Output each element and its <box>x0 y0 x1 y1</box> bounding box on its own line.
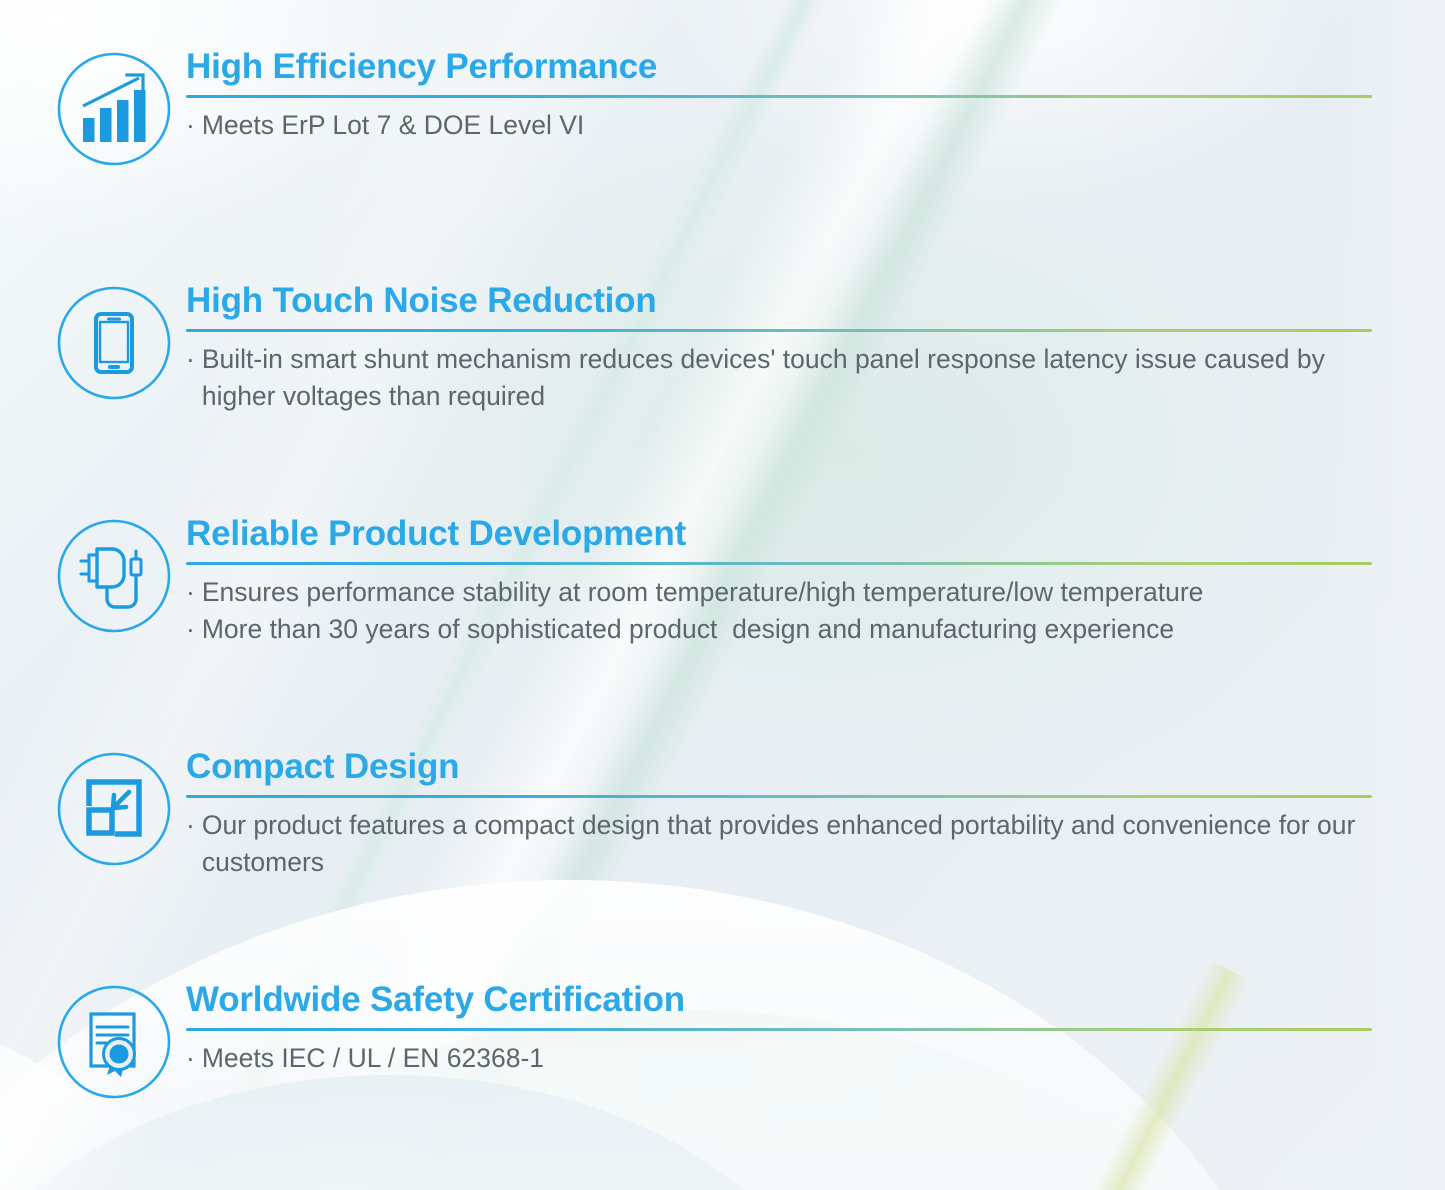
features-list: High Efficiency Performance · Meets ErP … <box>0 0 1445 1190</box>
compact-resize-icon <box>55 750 173 868</box>
bar-chart-growth-icon <box>55 50 173 168</box>
bullet-item: · Ensures performance stability at room … <box>186 574 1372 612</box>
bullet-text: Meets ErP Lot 7 & DOE Level VI <box>202 107 1372 145</box>
bullet-marker: · <box>186 611 195 649</box>
feature-icon-slot <box>52 515 176 635</box>
feature-title: Worldwide Safety Certification <box>186 981 1372 1020</box>
feature-bullets: · Meets IEC / UL / EN 62368-1 <box>186 1040 1372 1078</box>
feature-item-compact-design: Compact Design · Our product features a … <box>52 748 1372 882</box>
bullet-item: · Built-in smart shunt mechanism reduces… <box>186 341 1372 416</box>
feature-icon-slot <box>52 748 176 868</box>
feature-icon-slot <box>52 981 176 1101</box>
feature-body: High Efficiency Performance · Meets ErP … <box>176 48 1372 144</box>
feature-divider <box>186 95 1372 98</box>
bullet-marker: · <box>186 107 195 145</box>
bullet-marker: · <box>186 341 195 379</box>
bullet-item: · More than 30 years of sophisticated pr… <box>186 611 1372 649</box>
bullet-marker: · <box>186 1040 195 1078</box>
feature-body: Worldwide Safety Certification · Meets I… <box>176 981 1372 1077</box>
feature-body: Reliable Product Development · Ensures p… <box>176 515 1372 649</box>
bullet-item: · Our product features a compact design … <box>186 807 1372 882</box>
feature-bullets: · Built-in smart shunt mechanism reduces… <box>186 341 1372 416</box>
feature-divider <box>186 329 1372 332</box>
feature-bullets: · Our product features a compact design … <box>186 807 1372 882</box>
feature-icon-slot <box>52 48 176 168</box>
certificate-seal-icon <box>55 983 173 1101</box>
smartphone-icon <box>55 284 173 402</box>
feature-item-high-touch-noise-reduction: High Touch Noise Reduction · Built-in sm… <box>52 282 1372 416</box>
feature-title: Reliable Product Development <box>186 515 1372 554</box>
feature-title: Compact Design <box>186 748 1372 787</box>
bullet-text: Meets IEC / UL / EN 62368-1 <box>202 1040 1372 1078</box>
bullet-text: Ensures performance stability at room te… <box>202 574 1372 612</box>
feature-title: High Efficiency Performance <box>186 48 1372 87</box>
feature-icon-slot <box>52 282 176 402</box>
bullet-item: · Meets IEC / UL / EN 62368-1 <box>186 1040 1372 1078</box>
feature-item-high-efficiency-performance: High Efficiency Performance · Meets ErP … <box>52 48 1372 168</box>
bullet-item: · Meets ErP Lot 7 & DOE Level VI <box>186 107 1372 145</box>
feature-title: High Touch Noise Reduction <box>186 282 1372 321</box>
feature-item-reliable-product-development: Reliable Product Development · Ensures p… <box>52 515 1372 649</box>
bullet-marker: · <box>186 574 195 612</box>
power-adapter-icon <box>55 517 173 635</box>
feature-item-worldwide-safety-certification: Worldwide Safety Certification · Meets I… <box>52 981 1372 1101</box>
bullet-text: Our product features a compact design th… <box>202 807 1372 882</box>
bullet-text: Built-in smart shunt mechanism reduces d… <box>202 341 1372 416</box>
bullet-marker: · <box>186 807 195 845</box>
feature-body: High Touch Noise Reduction · Built-in sm… <box>176 282 1372 416</box>
feature-divider <box>186 562 1372 565</box>
feature-bullets: · Ensures performance stability at room … <box>186 574 1372 649</box>
bullet-text: More than 30 years of sophisticated prod… <box>202 611 1372 649</box>
feature-divider <box>186 1028 1372 1031</box>
feature-body: Compact Design · Our product features a … <box>176 748 1372 882</box>
feature-divider <box>186 795 1372 798</box>
feature-highlights-page: High Efficiency Performance · Meets ErP … <box>0 0 1445 1190</box>
feature-bullets: · Meets ErP Lot 7 & DOE Level VI <box>186 107 1372 145</box>
